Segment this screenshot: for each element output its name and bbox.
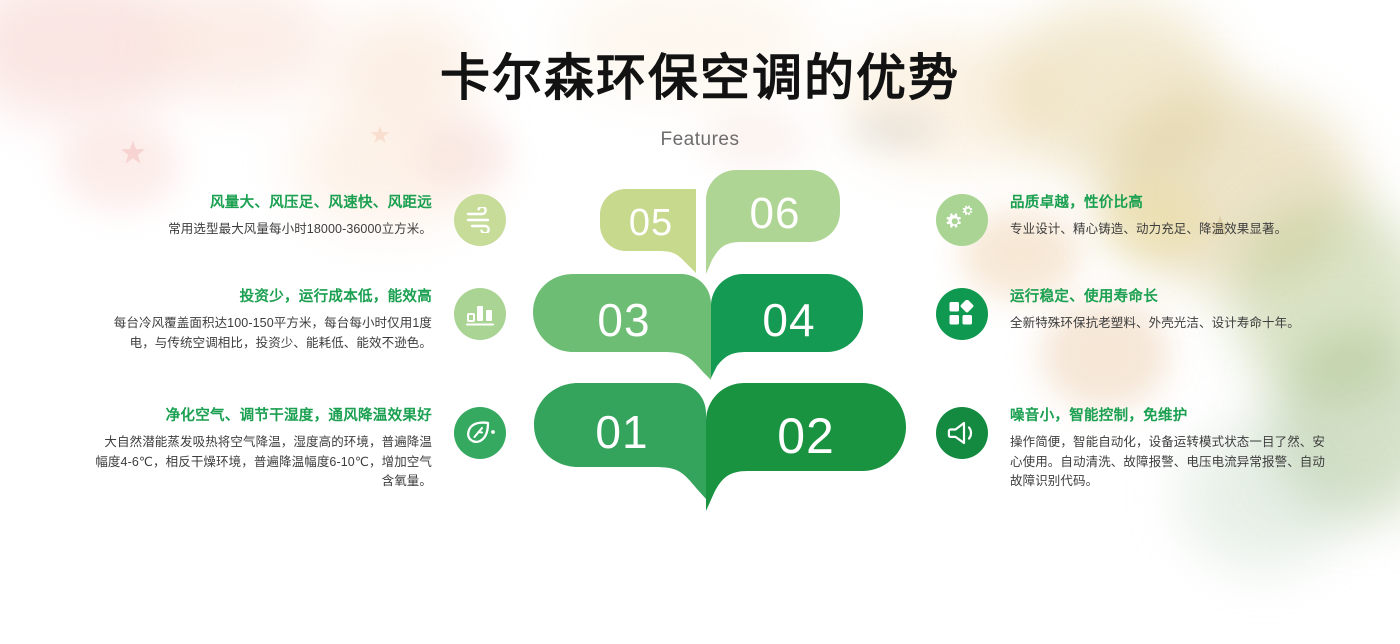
feature-02-title: 噪音小，智能控制，免维护 [1010, 406, 1188, 426]
feature-03-title: 投资少，运行成本低，能效高 [240, 287, 432, 307]
leaf-05[interactable]: 05 [600, 189, 696, 273]
leaf-02[interactable]: 02 [706, 383, 906, 511]
feature-04[interactable]: 运行稳定、使用寿命长 全新特殊环保抗老塑料、外壳光洁、设计寿命十年。 [936, 287, 1356, 340]
leaf-01-number: 01 [595, 409, 648, 455]
wind-icon-glyph [465, 207, 495, 233]
feature-06-desc: 专业设计、精心铸造、动力充足、降温效果显著。 [1010, 220, 1287, 240]
speaker-icon-glyph [947, 419, 977, 447]
feature-05-title: 风量大、风压足、风速快、风距远 [210, 193, 432, 213]
feature-05-text: 风量大、风压足、风速快、风距远 常用选型最大风量每小时18000-36000立方… [168, 193, 432, 240]
feature-04-desc: 全新特殊环保抗老塑料、外壳光洁、设计寿命十年。 [1010, 314, 1300, 334]
feature-01-text: 净化空气、调节干湿度，通风降温效果好 大自然潜能蒸发吸热将空气降温，湿度高的环境… [94, 406, 432, 492]
eco-leaf-icon-glyph [464, 419, 496, 447]
feature-01-desc: 大自然潜能蒸发吸热将空气降温，湿度高的环境，普遍降温幅度4-6℃，相反干燥环境，… [94, 433, 432, 492]
feature-05[interactable]: 风量大、风压足、风速快、风距远 常用选型最大风量每小时18000-36000立方… [60, 193, 506, 246]
leaf-03[interactable]: 03 [533, 274, 711, 380]
speaker-icon [936, 407, 988, 459]
leaf-04[interactable]: 04 [711, 274, 863, 378]
leaf-02-number: 02 [777, 411, 835, 461]
feature-04-text: 运行稳定、使用寿命长 全新特殊环保抗老塑料、外壳光洁、设计寿命十年。 [1010, 287, 1300, 334]
bg-blob-olive-2 [1100, 90, 1360, 290]
feature-04-title: 运行稳定、使用寿命长 [1010, 287, 1158, 307]
blocks-icon [936, 288, 988, 340]
feature-01-title: 净化空气、调节干湿度，通风降温效果好 [166, 406, 432, 426]
wind-icon [454, 194, 506, 246]
eco-leaf-icon [454, 407, 506, 459]
feature-02-desc: 操作简便，智能自动化，设备运转模式状态一目了然、安心使用。自动清洗、故障报警、电… [1010, 433, 1332, 492]
gears-icon [936, 194, 988, 246]
feature-03[interactable]: 投资少，运行成本低，能效高 每台冷风覆盖面积达100-150平方米，每台每小时仅… [60, 287, 506, 353]
feature-03-text: 投资少，运行成本低，能效高 每台冷风覆盖面积达100-150平方米，每台每小时仅… [102, 287, 432, 353]
leaf-05-number: 05 [629, 204, 673, 242]
bar-chart-icon [454, 288, 506, 340]
feature-02-text: 噪音小，智能控制，免维护 操作简便，智能自动化，设备运转模式状态一目了然、安心使… [1010, 406, 1332, 492]
leaf-01[interactable]: 01 [534, 383, 706, 499]
blocks-icon-glyph [948, 300, 976, 328]
feature-02[interactable]: 噪音小，智能控制，免维护 操作简便，智能自动化，设备运转模式状态一目了然、安心使… [936, 406, 1376, 492]
gears-icon-glyph [946, 205, 978, 235]
feature-03-desc: 每台冷风覆盖面积达100-150平方米，每台每小时仅用1度电，与传统空调相比，投… [102, 314, 432, 353]
page-subtitle: Features [0, 129, 1400, 151]
leaf-06[interactable]: 06 [706, 170, 840, 274]
infographic-canvas: 卡尔森环保空调的优势 Features 05 06 03 04 01 [0, 0, 1400, 644]
feature-05-desc: 常用选型最大风量每小时18000-36000立方米。 [168, 220, 432, 240]
leaf-06-number: 06 [750, 192, 801, 236]
page-title: 卡尔森环保空调的优势 [0, 38, 1400, 110]
leaf-04-number: 04 [762, 297, 815, 343]
leaf-03-number: 03 [597, 297, 650, 343]
feature-06[interactable]: 品质卓越，性价比高 专业设计、精心铸造、动力充足、降温效果显著。 [936, 193, 1356, 246]
feature-06-text: 品质卓越，性价比高 专业设计、精心铸造、动力充足、降温效果显著。 [1010, 193, 1287, 240]
feature-06-title: 品质卓越，性价比高 [1010, 193, 1143, 213]
bar-chart-icon-glyph [465, 301, 495, 327]
feature-01[interactable]: 净化空气、调节干湿度，通风降温效果好 大自然潜能蒸发吸热将空气降温，湿度高的环境… [40, 406, 506, 492]
